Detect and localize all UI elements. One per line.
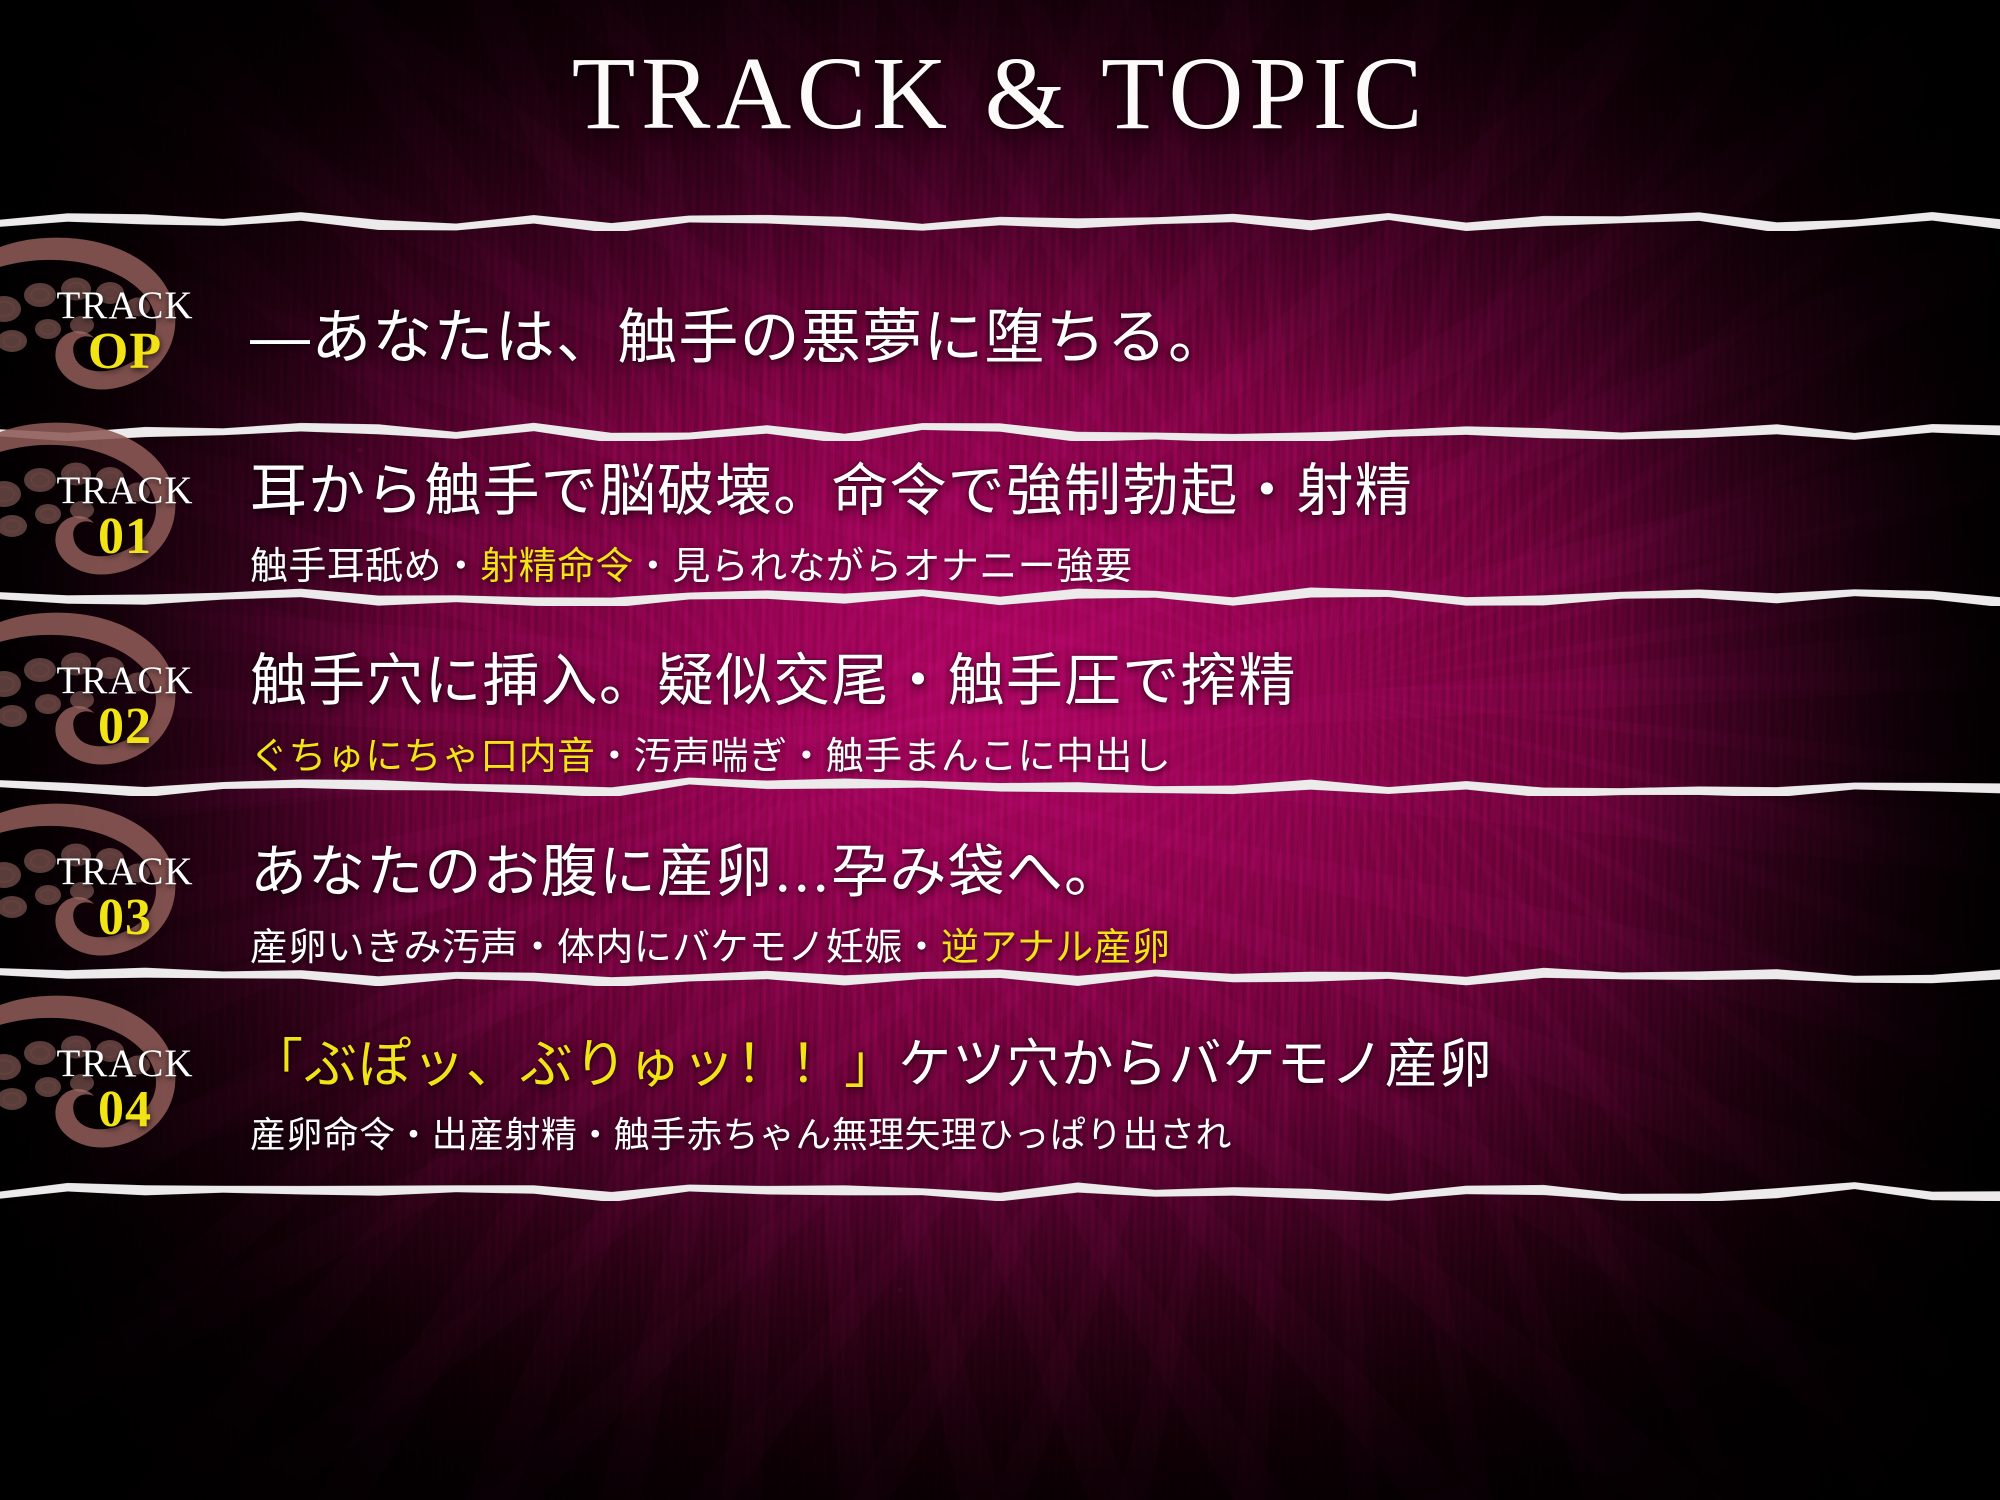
track-label-column: TRACKOP: [0, 286, 250, 378]
track-subtitle-segment: ・見られながらオナニー強要: [634, 544, 1133, 588]
track-title: 触手穴に挿入。疑似交尾・触手圧で搾精: [250, 635, 1960, 717]
track-title-segment: 触手穴に挿入。疑似交尾・触手圧で搾精: [250, 648, 1297, 714]
track-row[interactable]: TRACK02触手穴に挿入。疑似交尾・触手圧で搾精ぐちゅにちゃ口内音・汚声喘ぎ・…: [0, 627, 2000, 787]
track-text-column: 触手穴に挿入。疑似交尾・触手圧で搾精ぐちゅにちゃ口内音・汚声喘ぎ・触手まんこに中…: [250, 635, 2000, 780]
track-label-column: TRACK02: [0, 661, 250, 753]
track-label-column: TRACK01: [0, 471, 250, 563]
track-title: ―あなたは、触手の悪夢に堕ちる。: [250, 289, 1960, 376]
track-text-column: あなたのお腹に産卵…孕み袋へ。産卵いきみ汚声・体内にバケモノ妊娠・逆アナル産卵: [250, 826, 2000, 971]
track-word-label: TRACK: [56, 661, 193, 701]
track-title-segment: ケツ穴からバケモノ産卵: [898, 1034, 1493, 1095]
track-subtitle: 産卵命令・出産射精・触手赤ちゃん無理矢理ひっぱり出され: [250, 1106, 1960, 1158]
track-row[interactable]: TRACK01耳から触手で脳破壊。命令で強制勃起・射精触手耳舐め・射精命令・見ら…: [0, 437, 2000, 597]
track-label-column: TRACK04: [0, 1044, 250, 1136]
track-number: OP: [88, 326, 162, 378]
page-title: TRACK & TOPIC: [0, 42, 2000, 146]
track-title-highlight: 「ぶぽッ、ぶりゅッ！！」: [250, 1034, 898, 1095]
track-row[interactable]: TRACK04「ぶぽッ、ぶりゅッ！！」ケツ穴からバケモノ産卵産卵命令・出産射精・…: [0, 1010, 2000, 1170]
track-number: 04: [98, 1084, 152, 1136]
track-text-column: ―あなたは、触手の悪夢に堕ちる。: [250, 289, 2000, 376]
track-subtitle: ぐちゅにちゃ口内音・汚声喘ぎ・触手まんこに中出し: [250, 725, 1960, 780]
track-label-column: TRACK03: [0, 852, 250, 944]
track-subtitle-highlight: 逆アナル産卵: [941, 925, 1171, 969]
track-title: あなたのお腹に産卵…孕み袋へ。: [250, 826, 1960, 908]
track-title-segment: ―あなたは、触手の悪夢に堕ちる。: [250, 303, 1229, 373]
track-word-label: TRACK: [56, 471, 193, 511]
track-word-label: TRACK: [56, 286, 193, 326]
track-title-segment: あなたのお腹に産卵…孕み袋へ。: [250, 839, 1122, 905]
track-subtitle-segment: ・汚声喘ぎ・触手まんこに中出し: [595, 734, 1171, 778]
slide-root: TRACK & TOPIC TRACKOP―あなたは、触手の悪夢に堕ちる。TRA…: [0, 0, 2000, 1500]
track-subtitle-segment: 産卵命令・出産射精・触手赤ちゃん無理矢理ひっぱり出され: [250, 1115, 1232, 1156]
track-subtitle-highlight: ぐちゅにちゃ口内音: [250, 734, 595, 778]
track-title: 耳から触手で脳破壊。命令で強制勃起・射精: [250, 445, 1960, 527]
track-subtitle: 触手耳舐め・射精命令・見られながらオナニー強要: [250, 535, 1960, 590]
track-title: 「ぶぽッ、ぶりゅッ！！」ケツ穴からバケモノ産卵: [250, 1022, 1960, 1098]
track-text-column: 耳から触手で脳破壊。命令で強制勃起・射精触手耳舐め・射精命令・見られながらオナニ…: [250, 445, 2000, 590]
track-subtitle-highlight: 射精命令: [480, 544, 634, 588]
track-word-label: TRACK: [56, 852, 193, 892]
track-subtitle-segment: 産卵いきみ汚声・体内にバケモノ妊娠・: [250, 925, 941, 969]
track-number: 03: [98, 892, 152, 944]
track-word-label: TRACK: [56, 1044, 193, 1084]
track-row[interactable]: TRACK03あなたのお腹に産卵…孕み袋へ。産卵いきみ汚声・体内にバケモノ妊娠・…: [0, 818, 2000, 978]
track-number: 02: [98, 701, 152, 753]
track-subtitle-segment: 触手耳舐め・: [250, 544, 480, 588]
track-text-column: 「ぶぽッ、ぶりゅッ！！」ケツ穴からバケモノ産卵産卵命令・出産射精・触手赤ちゃん無…: [250, 1022, 2000, 1158]
track-number: 01: [98, 511, 152, 563]
track-subtitle: 産卵いきみ汚声・体内にバケモノ妊娠・逆アナル産卵: [250, 916, 1960, 971]
track-row[interactable]: TRACKOP―あなたは、触手の悪夢に堕ちる。: [0, 252, 2000, 412]
track-title-segment: 耳から触手で脳破壊。命令で強制勃起・射精: [250, 458, 1413, 524]
